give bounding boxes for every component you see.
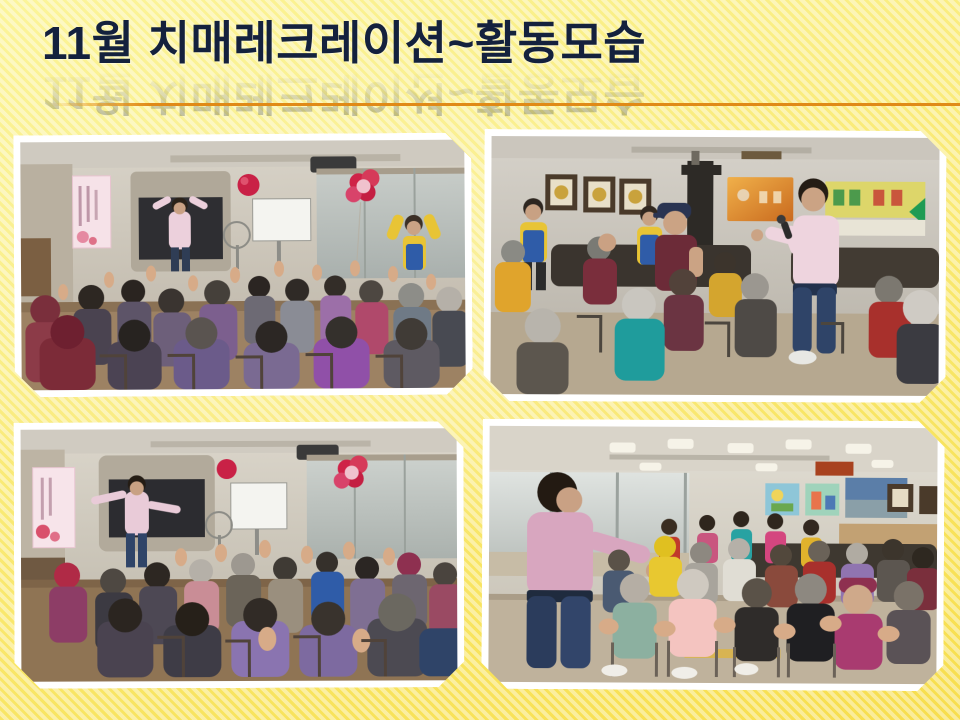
- title-block: 11월 치매레크레이션~활동모습 11월 치매레크레이션~활동모습: [0, 8, 960, 104]
- photo-image-bottom-right: [488, 426, 937, 684]
- title-divider-rule: [0, 103, 960, 106]
- photo-frame-top-right[interactable]: [483, 129, 946, 403]
- photo-frame-bottom-right[interactable]: [481, 419, 944, 691]
- photo-frame-top-left[interactable]: [13, 133, 473, 398]
- photo-image-bottom-left: [21, 428, 458, 682]
- photo-illustration-1: [20, 140, 466, 391]
- page-title: 11월 치매레크레이션~활동모습: [42, 18, 646, 68]
- photo-illustration-4: [488, 426, 937, 684]
- slide-canvas: 11월 치매레크레이션~활동모습 11월 치매레크레이션~활동모습: [0, 0, 960, 720]
- photo-image-top-right: [490, 136, 939, 396]
- photo-frame-bottom-left[interactable]: [14, 421, 465, 689]
- photo-image-top-left: [20, 140, 466, 391]
- page-title-reflection: 11월 치매레크레이션~활동모습: [42, 68, 646, 118]
- photo-illustration-3: [21, 428, 458, 682]
- photo-illustration-2: [490, 136, 939, 396]
